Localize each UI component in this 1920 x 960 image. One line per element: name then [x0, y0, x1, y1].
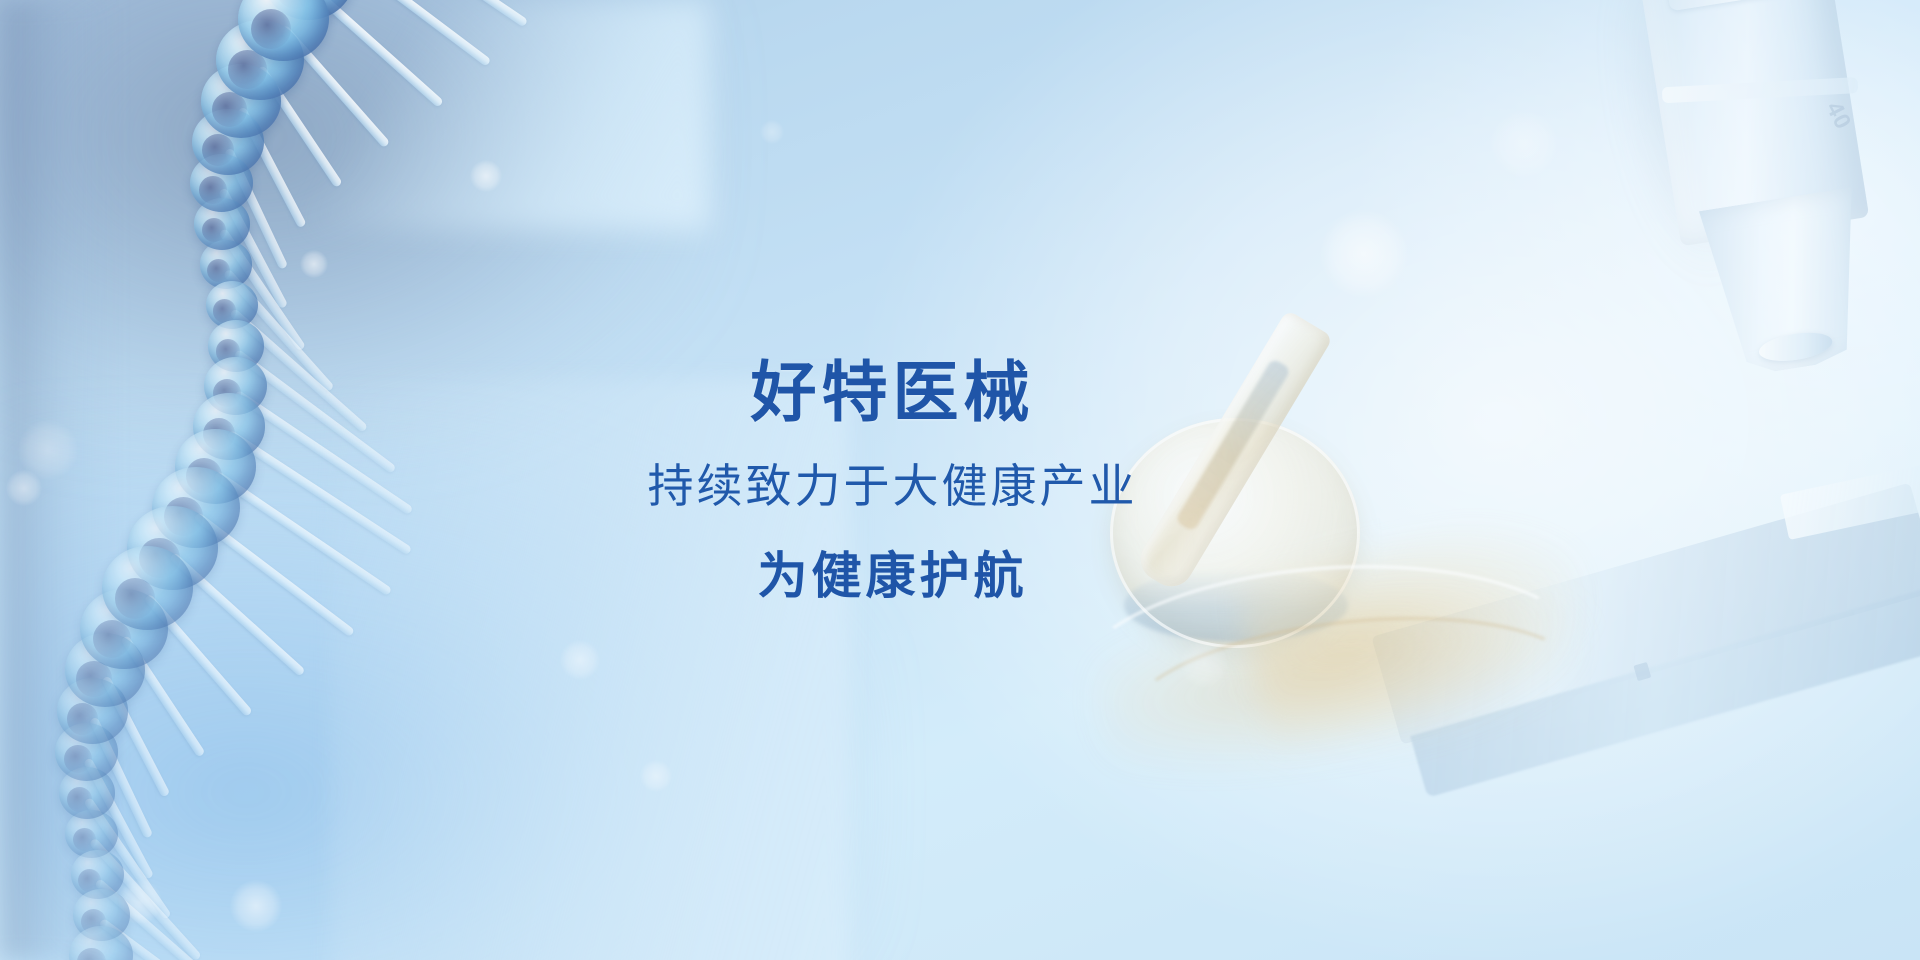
- bokeh-dot: [760, 120, 784, 144]
- bokeh-dot: [230, 880, 282, 932]
- dna-nucleotide: [102, 546, 193, 630]
- hero-subtitle-primary: 持续致力于大健康产业: [648, 463, 1138, 509]
- bokeh-dot: [300, 250, 328, 278]
- bokeh-dot: [640, 760, 672, 792]
- bokeh-dot: [1320, 210, 1408, 298]
- bokeh-dot: [1180, 640, 1228, 688]
- hero-subtitle-secondary: 为健康护航: [648, 551, 1138, 601]
- brand-title: 好特医械: [648, 359, 1138, 425]
- hero-copy-inner: 好特医械 持续致力于大健康产业 为健康护航: [648, 359, 1138, 601]
- hero-banner: 40 好特医械 持续致力于大健康产业 为健康护航: [0, 0, 1920, 960]
- bokeh-dot: [560, 640, 600, 680]
- bokeh-dot: [1490, 110, 1558, 178]
- petri-dish-with-test-tube: [1080, 330, 1640, 750]
- bokeh-dot: [6, 470, 42, 506]
- bokeh-dot: [470, 160, 502, 192]
